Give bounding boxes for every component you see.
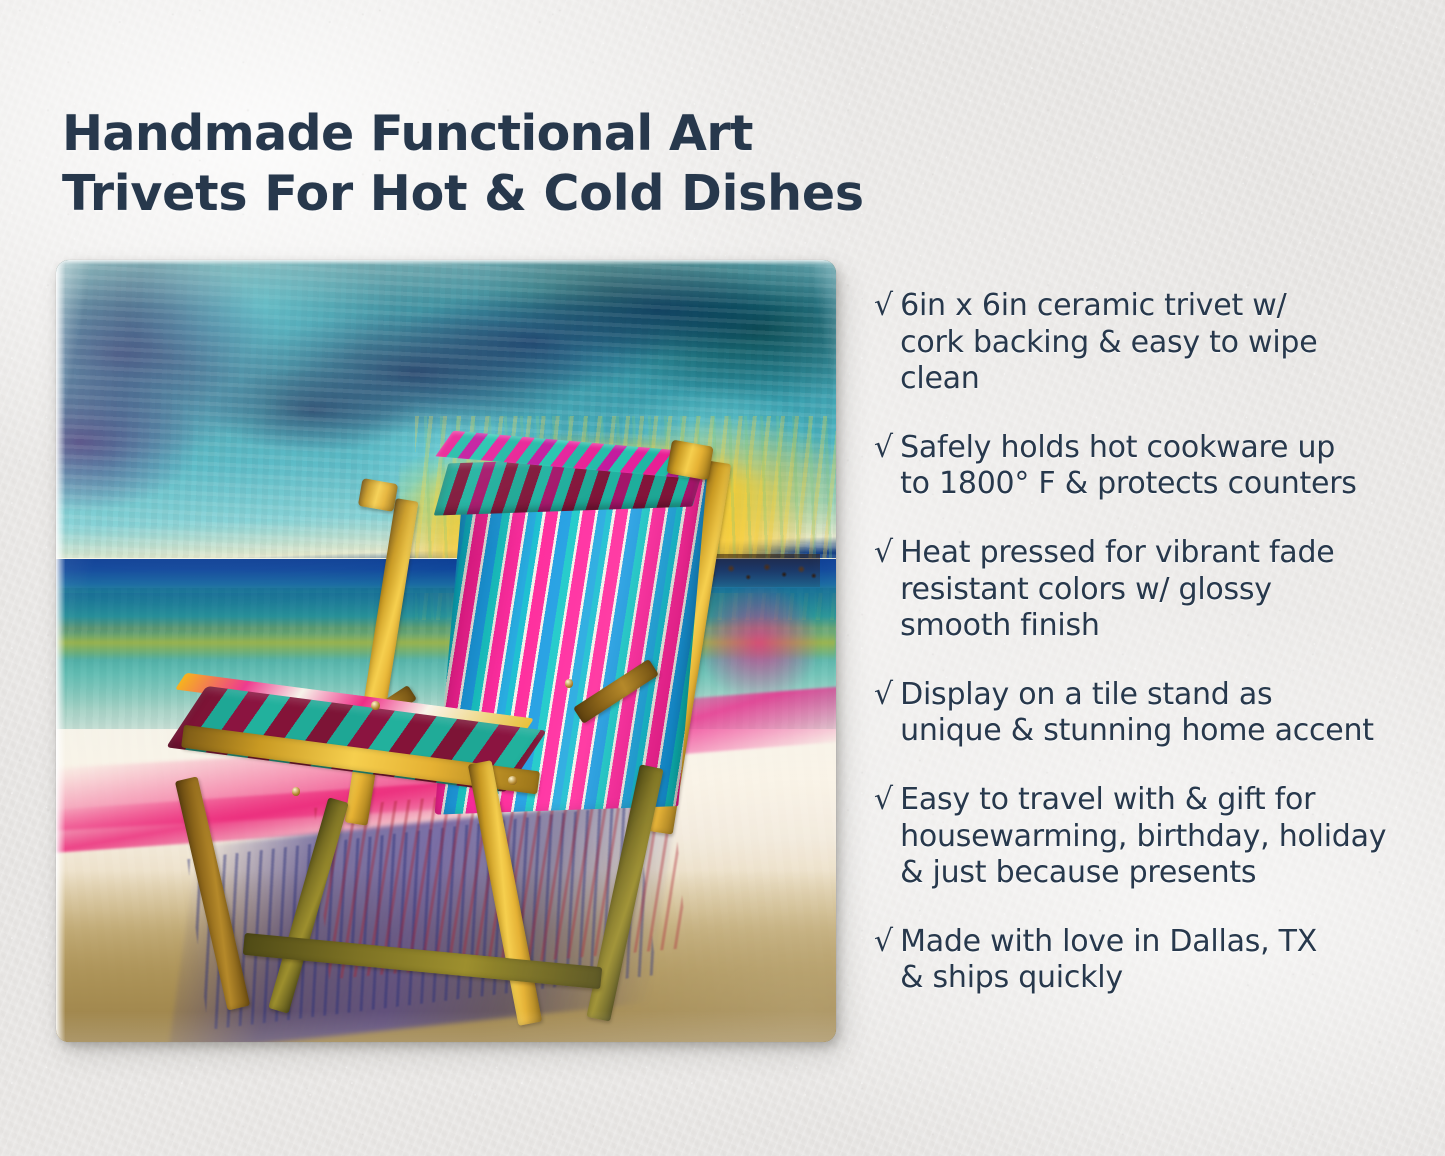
chair-hardware-pin: [292, 787, 301, 796]
feature-item: √ Safely holds hot cookware up to 1800° …: [874, 430, 1394, 503]
feature-item: √ Heat pressed for vibrant fade resistan…: [874, 535, 1394, 645]
checkmark-icon: √: [874, 430, 893, 467]
product-image: [56, 260, 836, 1042]
checkmark-icon: √: [874, 924, 893, 961]
feature-item: √ Made with love in Dallas, TX & ships q…: [874, 924, 1394, 997]
chair-hardware-pin: [371, 701, 380, 710]
feature-text: Easy to travel with & gift for housewarm…: [900, 782, 1386, 892]
checkmark-icon: √: [874, 535, 893, 572]
feature-item: √ Display on a tile stand as unique & st…: [874, 677, 1394, 750]
chair-knob-left: [358, 478, 398, 512]
chair-hardware-pin: [565, 679, 574, 688]
checkmark-icon: √: [874, 677, 893, 714]
chair-hardware-pin: [508, 776, 517, 785]
painting-deck-chair: [56, 260, 836, 1042]
feature-item: √ Easy to travel with & gift for housewa…: [874, 782, 1394, 892]
feature-text: Heat pressed for vibrant fade resistant …: [900, 535, 1334, 645]
feature-text: Display on a tile stand as unique & stun…: [900, 677, 1374, 750]
ceramic-trivet-tile: [56, 260, 836, 1042]
feature-item: √ 6in x 6in ceramic trivet w/ cork backi…: [874, 288, 1394, 398]
page-title-line-1: Handmade Functional Art: [62, 104, 892, 164]
feature-text: Made with love in Dallas, TX & ships qui…: [900, 924, 1317, 997]
checkmark-icon: √: [874, 782, 893, 819]
feature-text: Safely holds hot cookware up to 1800° F …: [900, 430, 1357, 503]
chair-leg-front-left: [175, 777, 250, 1011]
checkmark-icon: √: [874, 288, 893, 325]
page-title: Handmade Functional Art Trivets For Hot …: [62, 104, 892, 224]
page-title-line-2: Trivets For Hot & Cold Dishes: [62, 164, 892, 224]
feature-text: 6in x 6in ceramic trivet w/ cork backing…: [900, 288, 1317, 398]
feature-list: √ 6in x 6in ceramic trivet w/ cork backi…: [874, 288, 1394, 997]
chair-leg-rear-left: [268, 797, 349, 1013]
